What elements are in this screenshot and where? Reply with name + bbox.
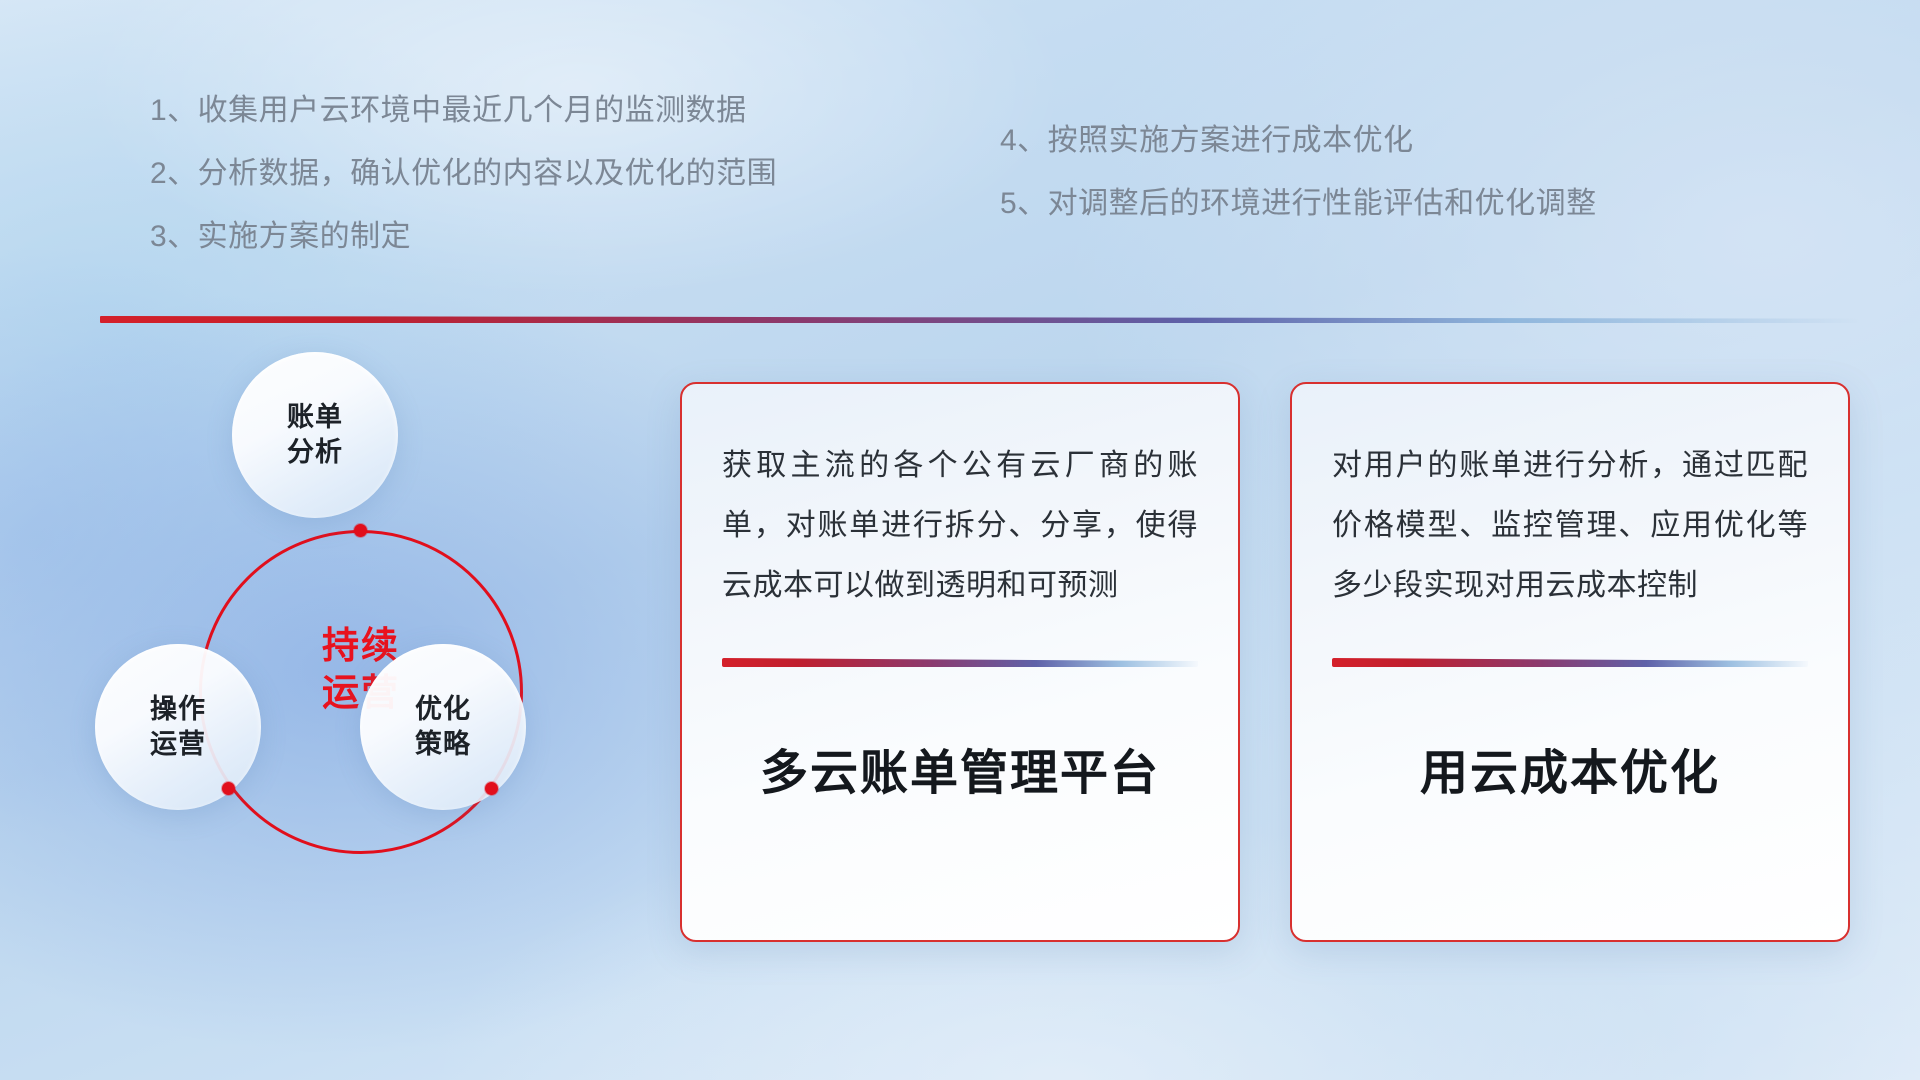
card-content: 对用户的账单进行分析，通过匹配价格模型、监控管理、应用优化等多少段实现对用云成本…	[1332, 436, 1808, 910]
diagram-node-optimization-policy[interactable]: 优化 策略	[360, 644, 526, 810]
card-title: 多云账单管理平台	[722, 733, 1198, 803]
steps-right-column: 4、按照实施方案进行成本优化 5、对调整后的环境进行性能评估和优化调整	[1000, 126, 1597, 252]
diagram-node-bill-analysis[interactable]: 账单 分析	[232, 352, 398, 518]
node-label-line-2: 策略	[415, 727, 471, 762]
card-body-text: 获取主流的各个公有云厂商的账单，对账单进行拆分、分享，使得云成本可以做到透明和可…	[722, 436, 1198, 616]
card-content: 获取主流的各个公有云厂商的账单，对账单进行拆分、分享，使得云成本可以做到透明和可…	[722, 436, 1198, 910]
card-divider	[722, 658, 1198, 667]
diagram-connector-dot-top	[354, 524, 367, 537]
node-label-line-1: 账单	[287, 400, 343, 435]
card-body-text: 对用户的账单进行分析，通过匹配价格模型、监控管理、应用优化等多少段实现对用云成本…	[1332, 436, 1808, 616]
card-title: 用云成本优化	[1332, 733, 1808, 803]
steps-section: 1、收集用户云环境中最近几个月的监测数据 2、分析数据，确认优化的内容以及优化的…	[0, 96, 1920, 266]
step-item-2: 2、分析数据，确认优化的内容以及优化的范围	[150, 159, 777, 189]
card-divider	[1332, 658, 1808, 667]
diagram-connector-dot-right	[485, 782, 498, 795]
diagram-connector-dot-left	[222, 782, 235, 795]
steps-left-column: 1、收集用户云环境中最近几个月的监测数据 2、分析数据，确认优化的内容以及优化的…	[150, 96, 777, 285]
node-label-line-1: 操作	[150, 692, 206, 727]
step-item-3: 3、实施方案的制定	[150, 222, 777, 252]
step-item-4: 4、按照实施方案进行成本优化	[1000, 126, 1597, 156]
node-label-line-1: 优化	[415, 692, 471, 727]
continuous-operation-diagram: 持续 运营 账单 分析 操作 运营 优化 策略	[95, 352, 645, 952]
slide-canvas: 1、收集用户云环境中最近几个月的监测数据 2、分析数据，确认优化的内容以及优化的…	[0, 0, 1920, 1080]
diagram-node-operation-ops[interactable]: 操作 运营	[95, 644, 261, 810]
step-item-5: 5、对调整后的环境进行性能评估和优化调整	[1000, 189, 1597, 219]
card-cloud-cost-optimization[interactable]: 对用户的账单进行分析，通过匹配价格模型、监控管理、应用优化等多少段实现对用云成本…	[1290, 382, 1850, 942]
section-divider	[100, 316, 1860, 323]
step-item-1: 1、收集用户云环境中最近几个月的监测数据	[150, 96, 777, 126]
node-label-line-2: 运营	[150, 727, 206, 762]
card-multi-cloud-billing[interactable]: 获取主流的各个公有云厂商的账单，对账单进行拆分、分享，使得云成本可以做到透明和可…	[680, 382, 1240, 942]
node-label-line-2: 分析	[287, 435, 343, 470]
